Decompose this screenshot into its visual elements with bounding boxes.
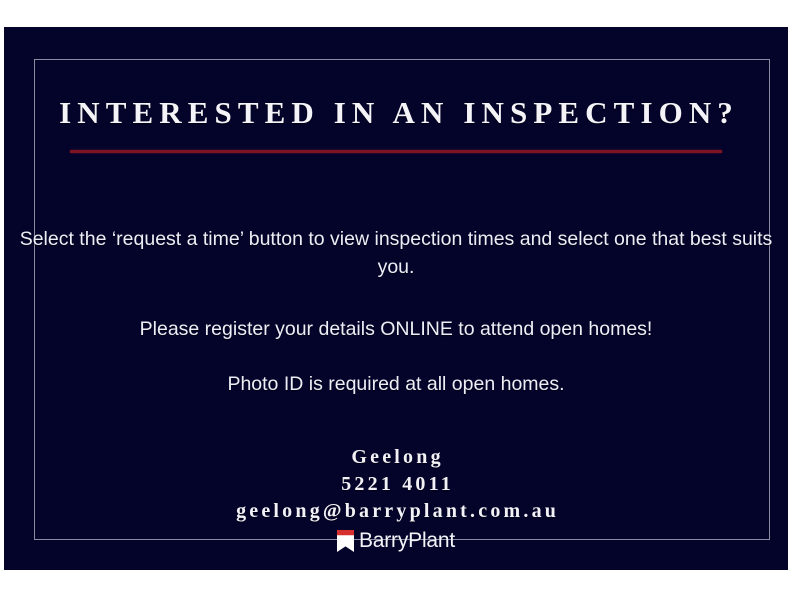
bookmark-icon <box>337 530 354 552</box>
contact-office-name: Geelong <box>4 444 788 471</box>
notice-panel: INTERESTED IN AN INSPECTION? Select the … <box>4 27 788 570</box>
heading-block: INTERESTED IN AN INSPECTION? <box>4 95 788 153</box>
instruction-paragraph-photo-id: Photo ID is required at all open homes. <box>4 370 788 398</box>
contact-block: Geelong 5221 4011 geelong@barryplant.com… <box>4 444 788 525</box>
title-divider <box>70 150 722 153</box>
instruction-paragraph-request-a-time: Select the ‘request a time’ button to vi… <box>4 225 788 281</box>
contact-email-address[interactable]: geelong@barryplant.com.au <box>4 498 788 525</box>
brand-wordmark: BarryPlant <box>359 530 455 552</box>
instruction-paragraph-register-online: Please register your details ONLINE to a… <box>4 315 788 343</box>
contact-phone-number[interactable]: 5221 4011 <box>4 471 788 498</box>
brand-logo: BarryPlant <box>4 530 788 552</box>
page-title: INTERESTED IN AN INSPECTION? <box>4 95 788 131</box>
inspection-notice-page: INTERESTED IN AN INSPECTION? Select the … <box>0 0 800 600</box>
